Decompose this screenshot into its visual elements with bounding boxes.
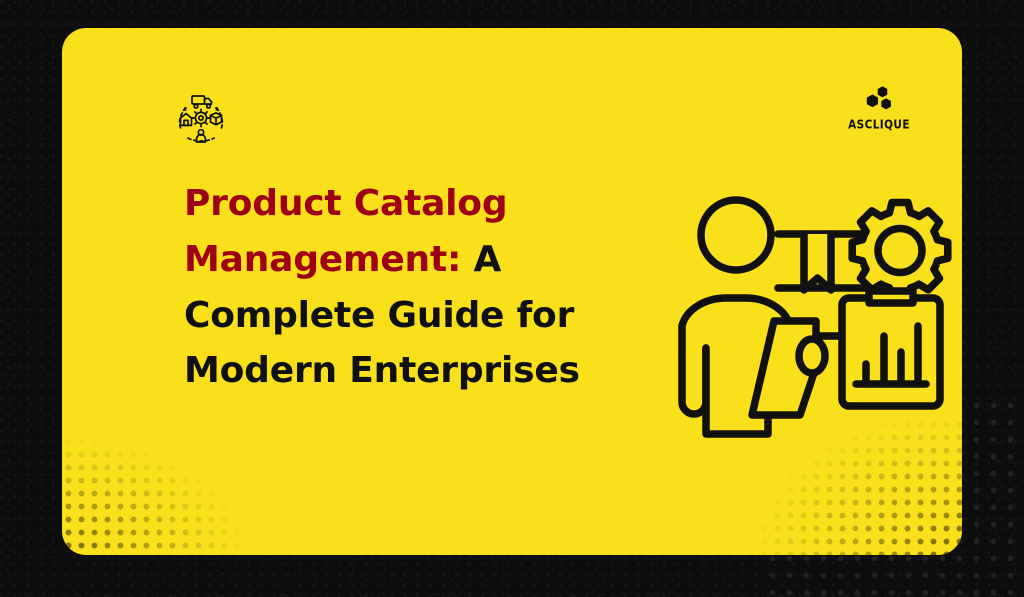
gear-icon	[852, 203, 948, 299]
supply-chain-icon	[170, 88, 232, 150]
asclique-wordmark: ASCLIQUE	[848, 118, 910, 132]
catalog-management-illustration	[670, 188, 962, 443]
page-title: Product Catalog Management: A Complete G…	[184, 176, 584, 399]
slide-canvas: ASCLIQUE Product Catalog Management: A C…	[0, 0, 1024, 597]
page-title-accent: Product Catalog Management:	[184, 183, 507, 280]
yellow-content-card: ASCLIQUE Product Catalog Management: A C…	[62, 28, 962, 555]
asclique-logo: ASCLIQUE	[853, 85, 905, 130]
clipboard-bar-chart	[842, 291, 940, 406]
asclique-hexagon-logo	[862, 85, 896, 115]
halftone-dots-bottom-left	[62, 435, 262, 555]
